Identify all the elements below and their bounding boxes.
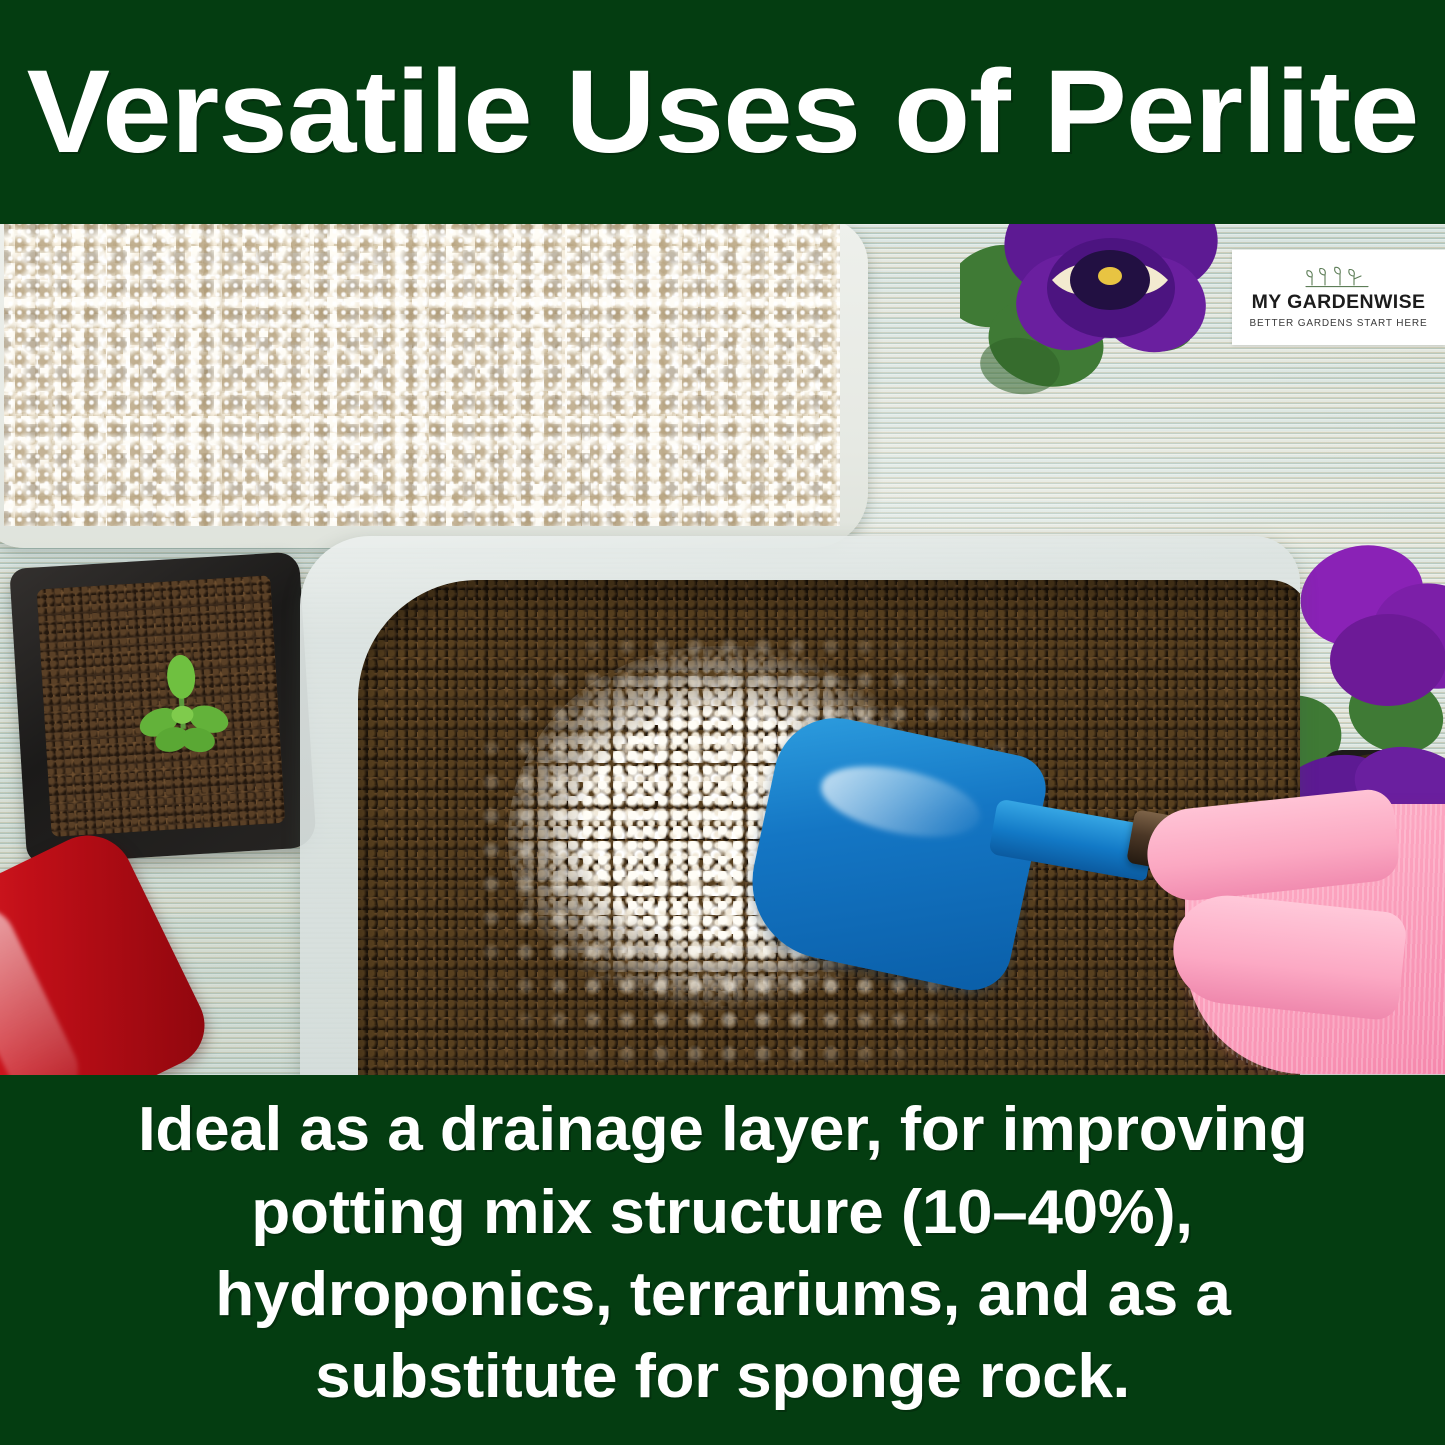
perlite-tray-fill bbox=[4, 224, 840, 526]
seedling-plant bbox=[133, 652, 232, 767]
pink-gardening-glove bbox=[1125, 770, 1445, 1075]
poster-root: Versatile Uses of Perlite bbox=[0, 0, 1445, 1445]
perlite-tray bbox=[0, 224, 868, 548]
brand-name: MY GARDENWISE bbox=[1252, 292, 1426, 313]
caption-line-4: substitute for sponge rock. bbox=[315, 1336, 1130, 1418]
seedling-tray bbox=[9, 551, 317, 864]
brand-tagline: BETTER GARDENS START HERE bbox=[1250, 317, 1428, 330]
pansy-flower-top bbox=[1000, 224, 1230, 374]
page-title: Versatile Uses of Perlite bbox=[12, 53, 1434, 171]
perlite-granule-highlights bbox=[4, 224, 840, 526]
sprouts-icon bbox=[1304, 265, 1374, 291]
caption-line-3: hydroponics, terrariums, and as a bbox=[215, 1254, 1230, 1336]
caption-line-1: Ideal as a drainage layer, for improving bbox=[138, 1089, 1308, 1171]
brand-logo: MY GARDENWISE BETTER GARDENS START HERE bbox=[1232, 250, 1445, 345]
photo-area: MY GARDENWISE BETTER GARDENS START HERE bbox=[0, 224, 1445, 1075]
pansy-flower-right-upper bbox=[1292, 540, 1445, 720]
caption-line-2: potting mix structure (10–40%), bbox=[252, 1172, 1193, 1254]
title-band: Versatile Uses of Perlite bbox=[0, 0, 1445, 224]
caption-band: Ideal as a drainage layer, for improving… bbox=[0, 1075, 1445, 1445]
